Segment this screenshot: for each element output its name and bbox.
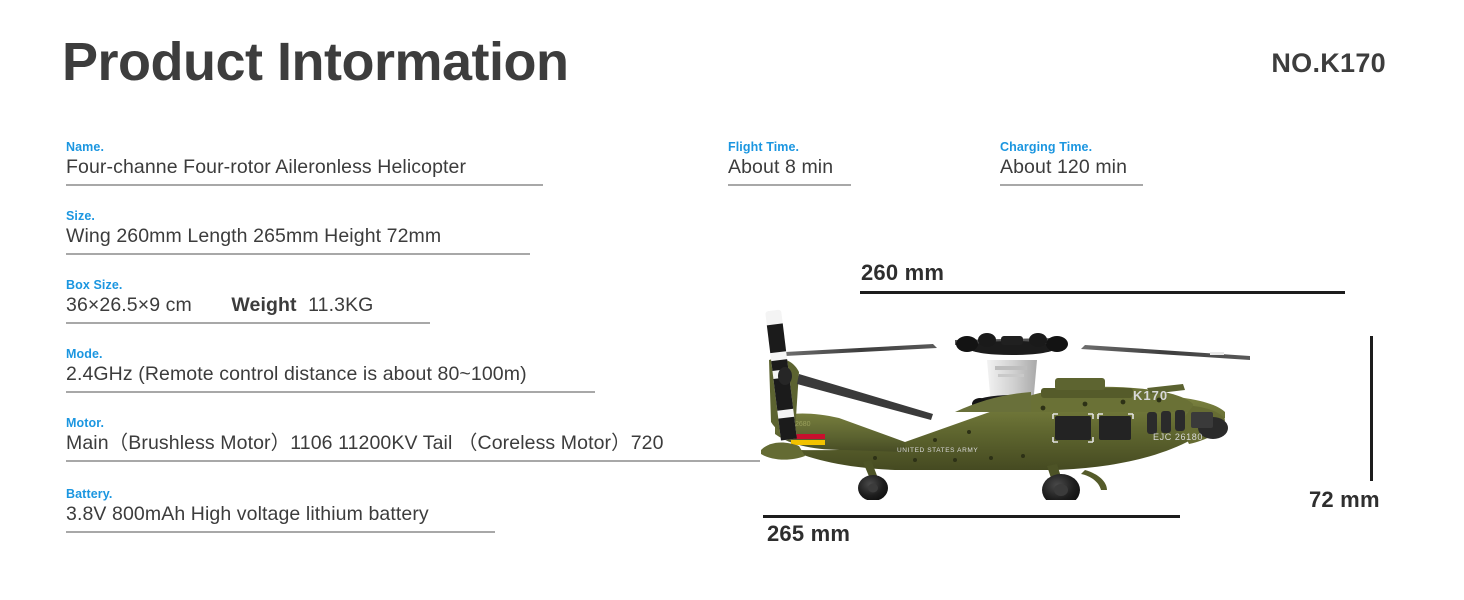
spec-label-mode: Mode. [66,347,595,361]
spec-label-charging-time: Charging Time. [1000,140,1143,154]
spec-value-name: Four-channe Four-rotor Aileronless Helic… [66,154,543,180]
spec-value-box-size: 36×26.5×9 cm Weight 11.3KG [66,292,430,318]
spec-row-battery: Battery. 3.8V 800mAh High voltage lithiu… [66,487,495,533]
spec-divider-battery [66,531,495,533]
spec-row-flight-time: Flight Time. About 8 min [728,140,851,186]
spec-divider-name [66,184,543,186]
spec-row-charging-time: Charging Time. About 120 min [1000,140,1143,186]
spec-divider-size [66,253,530,255]
spec-row-motor: Motor. Main（Brushless Motor）1106 11200KV… [66,416,760,462]
product-information-page: Product Intormation NO.K170 Name. Four-c… [0,0,1464,600]
spec-divider-mode [66,391,595,393]
spec-label-box-size: Box Size. [66,278,430,292]
marking-engine: K170 [1133,388,1168,403]
dimension-label-height: 72 mm [1309,487,1380,513]
spec-divider-motor [66,460,760,462]
spec-label-name: Name. [66,140,543,154]
spec-divider-box-size [66,322,430,324]
spec-value-mode: 2.4GHz (Remote control distance is about… [66,361,595,387]
dimension-rule-length [763,515,1180,518]
marking-nose: EJC 26180 [1153,432,1203,442]
spec-label-flight-time: Flight Time. [728,140,851,154]
box-size-dimensions: 36×26.5×9 cm [66,294,192,316]
dimension-rule-width [860,291,1345,294]
spec-value-flight-time: About 8 min [728,154,851,180]
dimension-label-length: 265 mm [767,521,850,547]
dimension-rule-height [1370,336,1373,481]
model-number: NO.K170 [1271,48,1386,79]
spec-row-name: Name. Four-channe Four-rotor Aileronless… [66,140,543,186]
spec-value-battery: 3.8V 800mAh High voltage lithium battery [66,501,495,527]
weight-label: Weight [231,294,296,316]
spec-row-size: Size. Wing 260mm Length 265mm Height 72m… [66,209,530,255]
spec-label-size: Size. [66,209,530,223]
spec-label-battery: Battery. [66,487,495,501]
marking-tail: 2680 [795,421,811,428]
dimension-label-width: 260 mm [861,260,944,286]
spec-divider-charging-time [1000,184,1143,186]
spec-value-charging-time: About 120 min [1000,154,1143,180]
spec-row-box-size: Box Size. 36×26.5×9 cm Weight 11.3KG [66,278,430,324]
page-title: Product Intormation [62,34,568,91]
spec-row-mode: Mode. 2.4GHz (Remote control distance is… [66,347,595,393]
spec-value-size: Wing 260mm Length 265mm Height 72mm [66,223,530,249]
weight-value: 11.3KG [308,294,373,316]
spec-label-motor: Motor. [66,416,760,430]
product-image-helicopter: K170 UNITED STATES ARMY EJC 26180 2680 [755,300,1275,500]
marking-boom: UNITED STATES ARMY [897,447,978,454]
spec-value-motor: Main（Brushless Motor）1106 11200KV Tail （… [66,430,760,456]
spec-divider-flight-time [728,184,851,186]
